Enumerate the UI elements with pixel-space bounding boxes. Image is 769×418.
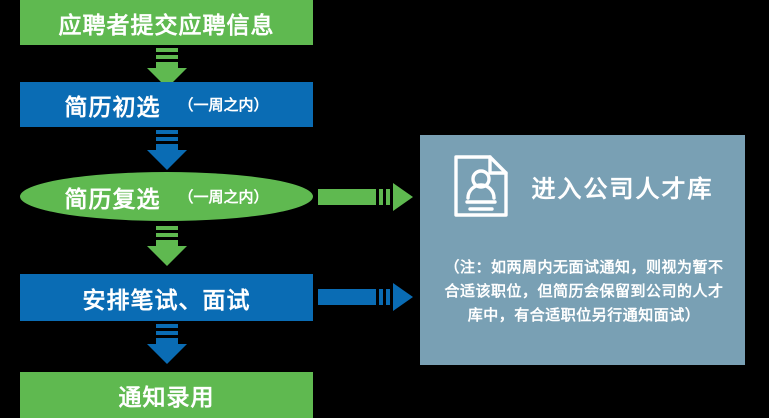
arrow-tail-segment: [156, 226, 178, 230]
flow-node-interview-label: 安排笔试、面试: [83, 281, 251, 315]
arrow-stem: [318, 189, 376, 205]
arrow-head: [147, 150, 187, 170]
arrow-tail-segment: [156, 137, 178, 141]
arrow-interview-to-offer: [147, 324, 187, 364]
flow-node-apply[interactable]: 应聘者提交应聘信息: [20, 0, 313, 45]
arrow-tail-segment: [379, 189, 383, 205]
talent-pool-title: 进入公司人才库: [532, 169, 714, 204]
arrow-tail-segment: [379, 289, 383, 305]
arrow-screen2-to-pool: [318, 183, 413, 211]
flow-node-offer[interactable]: 通知录用: [20, 372, 313, 418]
flow-node-interview[interactable]: 安排笔试、面试: [20, 274, 313, 321]
arrow-head: [393, 283, 413, 311]
arrow-interview-to-pool: [318, 283, 413, 311]
arrow-head: [393, 183, 413, 211]
flowchart-canvas: 应聘者提交应聘信息 简历初选 （一周之内） 简历复选 （一周之内） 安排笔试、面…: [0, 0, 769, 418]
arrow-tail-segment: [386, 189, 390, 205]
flow-node-screen2-label: 简历复选: [64, 180, 160, 214]
arrow-screen1-to-screen2: [147, 130, 187, 170]
arrow-tail-segment: [156, 324, 178, 328]
arrow-tail-segment: [156, 55, 178, 59]
flow-node-screen2-note: （一周之内）: [178, 186, 268, 207]
arrow-tail-segment: [386, 289, 390, 305]
flow-node-screen1-label: 简历初选: [64, 88, 160, 122]
talent-pool-note: （注：如两周内无面试通知，则视为暂不合适该职位，但简历会保留到公司的人才库中，有…: [438, 255, 730, 327]
arrow-screen2-to-interview: [147, 226, 187, 266]
talent-pool-panel: 进入公司人才库 （注：如两周内无面试通知，则视为暂不合适该职位，但简历会保留到公…: [420, 135, 745, 365]
flow-node-offer-label: 通知录用: [119, 378, 215, 412]
arrow-head: [147, 246, 187, 266]
arrow-tail-segment: [156, 331, 178, 335]
flow-node-screen1[interactable]: 简历初选 （一周之内）: [20, 82, 313, 127]
talent-pool-header: 进入公司人才库: [420, 153, 745, 219]
arrow-head: [147, 344, 187, 364]
arrow-tail-segment: [156, 130, 178, 134]
arrow-stem: [318, 289, 376, 305]
resume-person-icon: [452, 153, 510, 219]
arrow-tail-segment: [156, 233, 178, 237]
arrow-tail-segment: [156, 48, 178, 52]
flow-node-screen1-note: （一周之内）: [178, 94, 268, 115]
flow-node-apply-label: 应聘者提交应聘信息: [59, 6, 275, 40]
flow-node-screen2[interactable]: 简历复选 （一周之内）: [20, 172, 313, 221]
